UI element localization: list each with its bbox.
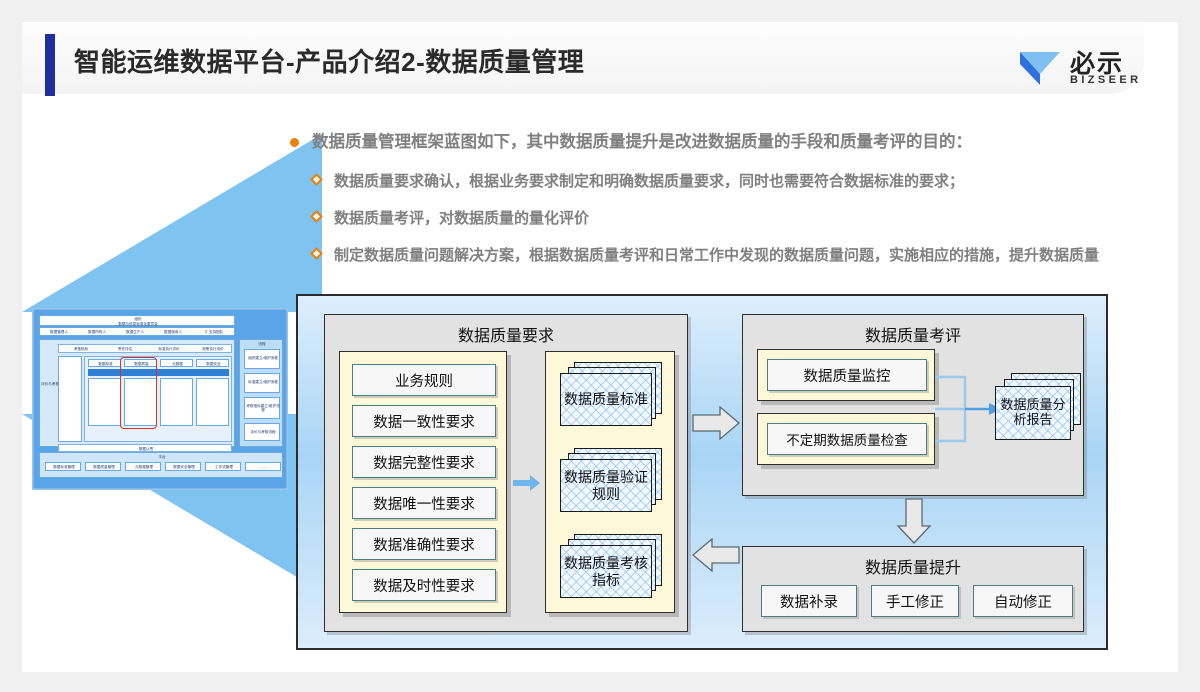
data-quality-framework-diagram: 数据质量要求 业务规则 数据一致性要求 数据完整性要求 数据唯一性要求 数据准确… bbox=[296, 294, 1108, 650]
thumb-domain-area: 数据标准 数据质量 元数据 数据安全 bbox=[84, 356, 232, 442]
thumb-domain-label-2: 元数据 bbox=[161, 362, 194, 366]
diamond-bullet-icon bbox=[310, 247, 323, 260]
thumb-platform-label-5: …… bbox=[246, 465, 282, 469]
panel-title-assessment: 数据质量考评 bbox=[743, 315, 1083, 346]
logo-text-en: BIZSEER bbox=[1070, 74, 1141, 86]
thumb-domain-3: 数据安全 bbox=[196, 359, 229, 367]
doc-label-1: 数据质量验证规则 bbox=[560, 459, 652, 512]
report-doc-label: 数据质量分析报告 bbox=[995, 386, 1071, 440]
doc-card-1[interactable]: 数据质量验证规则 bbox=[560, 448, 664, 516]
thumb-center-band: 数据认责 bbox=[58, 444, 232, 452]
assessment-item-wrap-1: 不定期数据质量检查 bbox=[757, 413, 935, 465]
thumb-flow-3: 评价与考核流程 bbox=[244, 423, 280, 441]
thumb-platform-5: …… bbox=[245, 462, 281, 471]
thumb-platform-title: 平台 bbox=[40, 455, 284, 459]
requirements-to-assessment-arrow-icon bbox=[692, 406, 740, 440]
header-accent-bar bbox=[45, 34, 55, 96]
rule-item-4[interactable]: 数据准确性要求 bbox=[352, 528, 496, 560]
thumb-platform-label-0: 数据标准管理 bbox=[46, 465, 82, 469]
thumb-domain-col-2 bbox=[160, 378, 193, 426]
improvement-to-requirements-arrow-icon bbox=[692, 538, 740, 572]
rules-to-docs-arrow-icon bbox=[513, 473, 541, 493]
diamond-bullet-icon bbox=[310, 173, 323, 186]
bullet-main: 数据质量管理框架蓝图如下，其中数据质量提升是改进数据质量的手段和质量考评的目的： bbox=[290, 130, 1150, 154]
report-doc-card[interactable]: 数据质量分析报告 bbox=[995, 373, 1081, 451]
thumb-eval-tabs: 考核指标 责任评估 标准执行评价 政策执行评价 bbox=[58, 344, 232, 353]
assessment-item-0[interactable]: 数据质量监控 bbox=[767, 359, 927, 391]
improvement-action-2[interactable]: 自动修正 bbox=[973, 585, 1073, 617]
thumb-role-3: 数据使用人 bbox=[156, 330, 190, 334]
thumb-platform-label-1: 数据质量管理 bbox=[86, 465, 122, 469]
thumb-eval-tab-2: 标准执行评价 bbox=[149, 347, 189, 351]
doc-card-2[interactable]: 数据质量考核指标 bbox=[560, 534, 664, 602]
thumb-eval-tab-3: 政策执行评价 bbox=[193, 347, 233, 351]
thumb-platform-1: 数据质量管理 bbox=[85, 462, 121, 471]
thumb-domain-0: 数据标准 bbox=[88, 359, 121, 367]
assessment-to-improvement-arrow-icon bbox=[896, 498, 932, 544]
bullet-sub-text-2: 制定数据质量问题解决方案，根据数据质量考评和日常工作中发现的数据质量问题，实施相… bbox=[334, 247, 1099, 264]
rules-container: 业务规则 数据一致性要求 数据完整性要求 数据唯一性要求 数据准确性要求 数据及… bbox=[339, 351, 507, 613]
bullet-list: 数据质量管理框架蓝图如下，其中数据质量提升是改进数据质量的手段和质量考评的目的：… bbox=[290, 130, 1150, 281]
thumb-domain-bluebar bbox=[88, 369, 229, 376]
thumb-flow-label-3: 评价与考核流程 bbox=[245, 430, 281, 434]
thumb-role-0: 数据管理人 bbox=[42, 330, 76, 334]
thumb-eval-tab-0: 考核指标 bbox=[61, 347, 101, 351]
brand-logo: 必示 BIZSEER bbox=[1012, 40, 1172, 96]
bullet-sub-text-0: 数据质量要求确认，根据业务要求制定和明确数据质量要求，同时也需要符合数据标准的要… bbox=[334, 173, 964, 190]
panel-data-quality-improvement[interactable]: 数据质量提升 数据补录 手工修正 自动修正 bbox=[742, 546, 1084, 632]
thumb-center-band-label: 数据认责 bbox=[59, 447, 233, 451]
thumb-flow-title: 流程 bbox=[240, 342, 284, 346]
thumb-platform-label-4: 工作流管理 bbox=[206, 465, 242, 469]
rule-item-1[interactable]: 数据一致性要求 bbox=[352, 405, 496, 437]
thumb-org-title: 组织 bbox=[40, 317, 236, 321]
framework-thumbnail[interactable]: 组织 数据与信息标准化委员会 数据管理人 数据所有人 数据生产人 数据使用人 I… bbox=[32, 308, 288, 490]
thumb-flow-label-1: 标准建立/维护流程 bbox=[245, 380, 281, 384]
assessment-item-1[interactable]: 不定期数据质量检查 bbox=[767, 423, 927, 455]
assessment-item-wrap-0: 数据质量监控 bbox=[757, 349, 935, 401]
bullet-sub-2: 制定数据质量问题解决方案，根据数据质量考评和日常工作中发现的数据质量问题，实施相… bbox=[290, 244, 1150, 267]
diamond-bullet-icon bbox=[310, 210, 323, 223]
thumb-domain-col-0 bbox=[88, 378, 121, 426]
slide: 智能运维数据平台-产品介绍2-数据质量管理 必示 BIZSEER 组织 数据与信… bbox=[22, 22, 1178, 672]
thumb-role-1: 数据所有人 bbox=[80, 330, 114, 334]
thumb-eval-standard bbox=[58, 356, 82, 442]
bullet-sub-text-1: 数据质量考评，对数据质量的量化评价 bbox=[334, 210, 589, 227]
rule-item-3[interactable]: 数据唯一性要求 bbox=[352, 487, 496, 519]
panel-title-requirements: 数据质量要求 bbox=[325, 315, 687, 346]
thumb-flow-column: 流程 组织建立/维护流程 标准建立/维护流程 考核指标建立/维护流程 评价与考核… bbox=[239, 339, 283, 447]
slide-header: 智能运维数据平台-产品介绍2-数据质量管理 bbox=[22, 22, 1144, 94]
rule-item-0[interactable]: 业务规则 bbox=[352, 364, 496, 396]
doc-label-2: 数据质量考核指标 bbox=[560, 545, 652, 598]
improvement-action-0[interactable]: 数据补录 bbox=[761, 585, 857, 617]
thumb-highlight-box bbox=[120, 357, 157, 429]
thumb-domain-label-3: 数据安全 bbox=[197, 362, 230, 366]
thumb-flow-label-0: 组织建立/维护流程 bbox=[245, 356, 281, 360]
improvement-action-1[interactable]: 手工修正 bbox=[871, 585, 959, 617]
thumb-role-4: IT 支持团队 bbox=[194, 330, 234, 334]
thumb-platform-label-2: 元数据管理 bbox=[126, 465, 162, 469]
panel-title-improvement: 数据质量提升 bbox=[743, 547, 1083, 578]
thumb-eval-tab-1: 责任评估 bbox=[105, 347, 145, 351]
thumb-org-title-box: 组织 数据与信息标准化委员会 bbox=[39, 315, 235, 326]
panel-data-quality-requirements[interactable]: 数据质量要求 业务规则 数据一致性要求 数据完整性要求 数据唯一性要求 数据准确… bbox=[324, 314, 688, 632]
rule-item-5[interactable]: 数据及时性要求 bbox=[352, 569, 496, 601]
bullet-sub-0: 数据质量要求确认，根据业务要求制定和明确数据质量要求，同时也需要符合数据标准的要… bbox=[290, 170, 1150, 193]
bullet-dot-icon bbox=[290, 138, 299, 147]
thumb-platform-3: 数据安全管理 bbox=[165, 462, 201, 471]
thumb-flow-2: 考核指标建立/维护流程 bbox=[244, 397, 280, 419]
bullet-main-text: 数据质量管理框架蓝图如下，其中数据质量提升是改进数据质量的手段和质量考评的目的： bbox=[312, 133, 972, 151]
page-title: 智能运维数据平台-产品介绍2-数据质量管理 bbox=[74, 42, 584, 79]
docs-container: 数据质量标准 数据质量验证规则 数据质量考核指标 bbox=[545, 351, 675, 613]
thumb-platform-row: 平台 数据标准管理 数据质量管理 元数据管理 数据安全管理 工作流管理 …… bbox=[39, 452, 283, 478]
thumb-eval-label: 评价与考核 bbox=[41, 382, 55, 386]
thumb-org-sub: 数据与信息标准化委员会 bbox=[40, 322, 236, 326]
thumb-roles-row: 数据管理人 数据所有人 数据生产人 数据使用人 IT 支持团队 bbox=[39, 327, 235, 336]
thumb-platform-label-3: 数据安全管理 bbox=[166, 465, 202, 469]
thumb-platform-0: 数据标准管理 bbox=[45, 462, 81, 471]
rule-item-2[interactable]: 数据完整性要求 bbox=[352, 446, 496, 478]
thumb-flow-0: 组织建立/维护流程 bbox=[244, 349, 280, 369]
panel-data-quality-assessment[interactable]: 数据质量考评 数据质量监控 不定期数据质量检查 数据质量分析报告 bbox=[742, 314, 1084, 496]
thumb-domain-col-3 bbox=[196, 378, 229, 426]
doc-card-0[interactable]: 数据质量标准 bbox=[560, 362, 664, 430]
bullet-sub-1: 数据质量考评，对数据质量的量化评价 bbox=[290, 207, 1150, 230]
doc-label-0: 数据质量标准 bbox=[560, 373, 652, 426]
thumb-domain-label-0: 数据标准 bbox=[89, 362, 122, 366]
thumb-flow-1: 标准建立/维护流程 bbox=[244, 373, 280, 393]
thumb-domain-2: 元数据 bbox=[160, 359, 193, 367]
thumb-platform-4: 工作流管理 bbox=[205, 462, 241, 471]
thumb-role-2: 数据生产人 bbox=[118, 330, 152, 334]
thumb-platform-2: 元数据管理 bbox=[125, 462, 161, 471]
thumb-flow-label-2: 考核指标建立/维护流程 bbox=[245, 404, 281, 413]
bizseer-check-icon bbox=[1018, 48, 1062, 86]
thumb-eval-area: 评价与考核 考核指标 责任评估 标准执行评价 政策执行评价 数据标准 数据质量 … bbox=[39, 339, 235, 447]
